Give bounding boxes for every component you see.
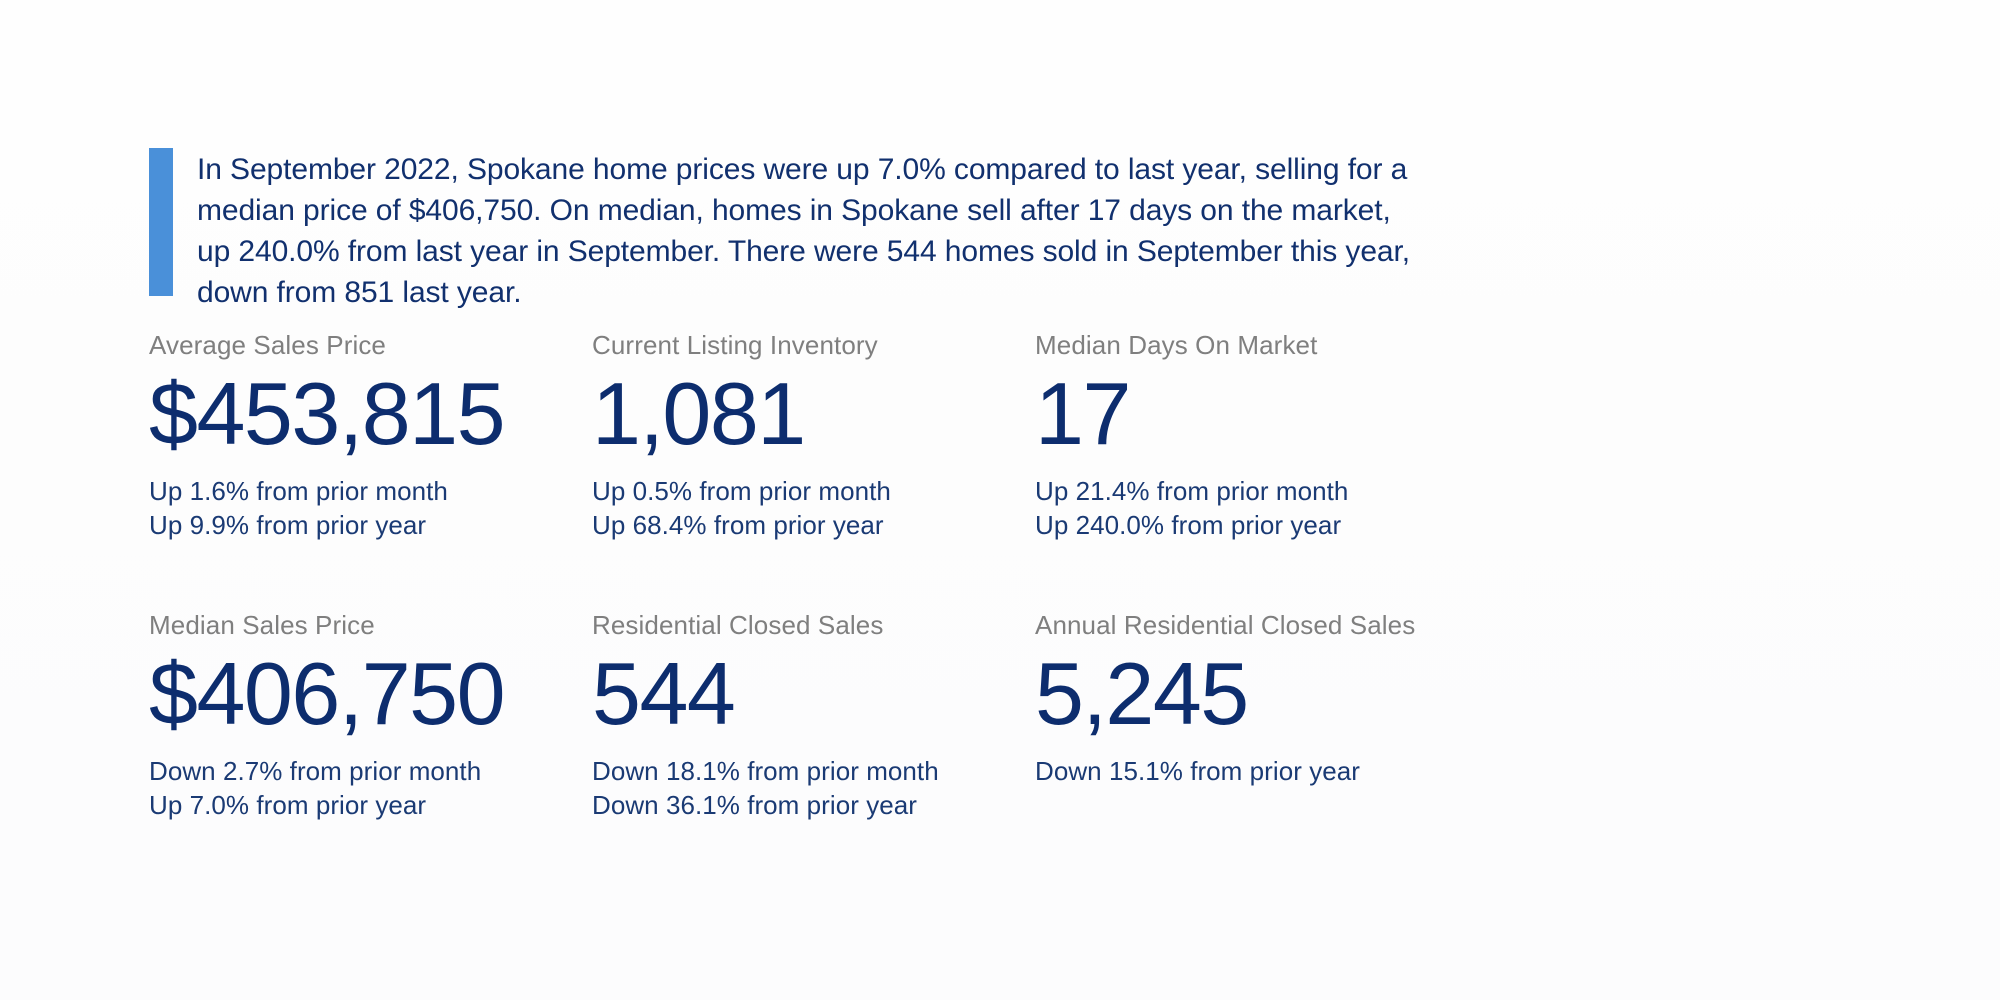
stat-notes: Up 21.4% from prior month Up 240.0% from… — [1035, 474, 1469, 542]
market-summary-callout: In September 2022, Spokane home prices w… — [149, 148, 1439, 313]
market-summary-paragraph: In September 2022, Spokane home prices w… — [197, 148, 1427, 313]
stat-label: Median Days On Market — [1035, 330, 1469, 360]
stat-note-prior-month: Up 0.5% from prior month — [592, 474, 1062, 508]
accent-bar — [149, 148, 173, 296]
stat-note-prior-year: Up 7.0% from prior year — [149, 788, 619, 822]
market-stats-grid: Average Sales Price $453,815 Up 1.6% fro… — [149, 330, 1469, 890]
stat-label: Average Sales Price — [149, 330, 619, 360]
stat-card-residential-closed-sales: Residential Closed Sales 544 Down 18.1% … — [592, 610, 1062, 822]
stat-note-prior-month: Up 21.4% from prior month — [1035, 474, 1469, 508]
market-report-page: In September 2022, Spokane home prices w… — [0, 0, 2000, 1000]
stat-label: Current Listing Inventory — [592, 330, 1062, 360]
stat-note-prior-year: Down 15.1% from prior year — [1035, 754, 1469, 788]
stat-card-current-listing-inventory: Current Listing Inventory 1,081 Up 0.5% … — [592, 330, 1062, 542]
stat-card-average-sales-price: Average Sales Price $453,815 Up 1.6% fro… — [149, 330, 619, 542]
stats-row: Average Sales Price $453,815 Up 1.6% fro… — [149, 330, 1469, 610]
stat-note-prior-month: Up 1.6% from prior month — [149, 474, 619, 508]
stat-value: $453,815 — [149, 366, 619, 462]
stat-note-prior-year: Up 68.4% from prior year — [592, 508, 1062, 542]
stat-card-annual-residential-closed-sales: Annual Residential Closed Sales 5,245 Do… — [1035, 610, 1469, 788]
stat-note-prior-month: Down 18.1% from prior month — [592, 754, 1062, 788]
stat-value: 5,245 — [1035, 646, 1469, 742]
stat-value: 544 — [592, 646, 1062, 742]
stat-label: Median Sales Price — [149, 610, 619, 640]
stat-value: $406,750 — [149, 646, 619, 742]
stat-note-prior-year: Up 240.0% from prior year — [1035, 508, 1469, 542]
stat-notes: Up 0.5% from prior month Up 68.4% from p… — [592, 474, 1062, 542]
stat-card-median-sales-price: Median Sales Price $406,750 Down 2.7% fr… — [149, 610, 619, 822]
stat-notes: Up 1.6% from prior month Up 9.9% from pr… — [149, 474, 619, 542]
stats-row: Median Sales Price $406,750 Down 2.7% fr… — [149, 610, 1469, 890]
stat-value: 17 — [1035, 366, 1469, 462]
stat-value: 1,081 — [592, 366, 1062, 462]
stat-notes: Down 18.1% from prior month Down 36.1% f… — [592, 754, 1062, 822]
stat-note-prior-month: Down 2.7% from prior month — [149, 754, 619, 788]
stat-label: Annual Residential Closed Sales — [1035, 610, 1469, 640]
stat-notes: Down 2.7% from prior month Up 7.0% from … — [149, 754, 619, 822]
stat-label: Residential Closed Sales — [592, 610, 1062, 640]
stat-card-median-days-on-market: Median Days On Market 17 Up 21.4% from p… — [1035, 330, 1469, 542]
stat-note-prior-year: Down 36.1% from prior year — [592, 788, 1062, 822]
stat-note-prior-year: Up 9.9% from prior year — [149, 508, 619, 542]
stat-notes: Down 15.1% from prior year — [1035, 754, 1469, 788]
